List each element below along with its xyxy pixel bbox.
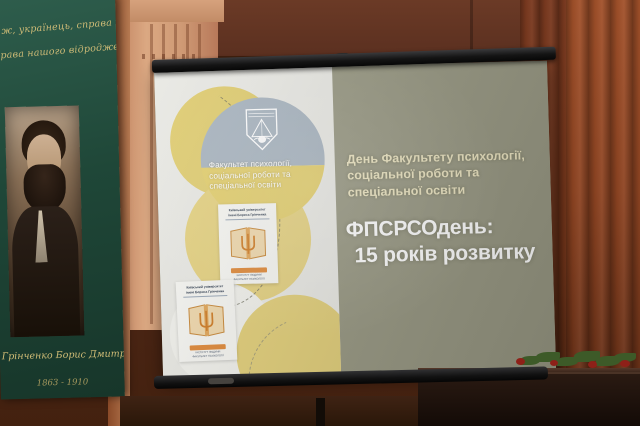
screen-stand-pole [316, 398, 325, 426]
bouquet-flower [588, 361, 597, 368]
badge-title: Київський університет імені Бориса Грінч… [222, 207, 272, 217]
bouquet-flower [550, 360, 558, 366]
university-badge-card: Київський університет імені Бориса Грінч… [218, 203, 278, 284]
slide-subtitle-line3: спеціальної освіти [347, 180, 547, 201]
screen-surface: Факультет психології, соціальної роботи … [154, 61, 556, 380]
badge-divider [183, 295, 227, 298]
conference-hall-photo: …я ж, українець, справа просвіти – справ… [0, 0, 640, 426]
grinchenko-portrait [5, 105, 85, 337]
open-book-trident-icon [229, 222, 268, 263]
slide-text-area: День Факультету психології, соціальної р… [340, 61, 556, 376]
slide-title: ФПСРСОдень: 15 років розвитку [345, 212, 556, 269]
open-book-trident-icon [186, 299, 226, 341]
slide-title-line2: 15 років розвитку [346, 238, 556, 269]
university-crest-icon [243, 106, 280, 153]
badge-title: Київський університет імені Бориса Грінч… [180, 284, 230, 295]
bouquet-flower [516, 358, 525, 365]
slide-subtitle: День Факультету психології, соціальної р… [347, 147, 548, 201]
portrait-suit [11, 206, 80, 338]
screen-pull-handle [208, 378, 234, 385]
banner-portrait-name: Грінченко Борис Дмитрович [2, 348, 122, 362]
bouquet-flower [620, 360, 630, 367]
projector-screen: Факультет психології, соціальної роботи … [150, 60, 558, 400]
grinchenko-banner: …я ж, українець, справа просвіти – справ… [0, 0, 125, 399]
banner-portrait-dates: 1863 - 1910 [2, 376, 122, 389]
slide-title-line1: ФПСРСОдень: [345, 215, 493, 241]
university-badge-card: Київський університет імені Бориса Грінч… [176, 280, 238, 362]
banner-quote-line2: справа нашого відродження. [0, 37, 125, 67]
badge-title-line2: імені Бориса Грінченка [222, 212, 272, 218]
slide-graphic-panel: Факультет психології, соціальної роботи … [154, 66, 341, 380]
badge-institute-label [231, 267, 267, 273]
pillar-capital [120, 0, 224, 22]
badge-subtext: ІНСТИТУТ ЛЮДИНИ ФАКУЛЬТЕТ ПСИХОЛОГІЇ [183, 350, 233, 359]
badge-divider [225, 218, 269, 220]
presentation-slide: Факультет психології, соціальної роботи … [154, 61, 556, 380]
emblem-faculty-text: Факультет психології, соціальної роботи … [205, 158, 327, 193]
badge-sub-line2: ФАКУЛЬТЕТ ПСИХОЛОГІЇ [183, 353, 233, 358]
